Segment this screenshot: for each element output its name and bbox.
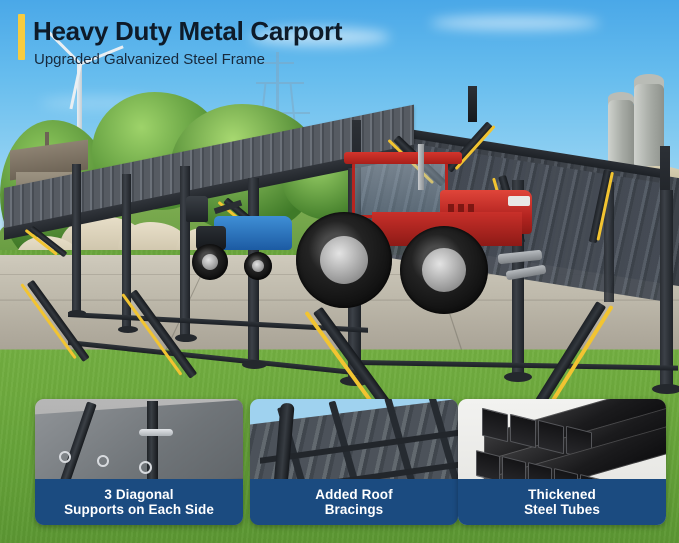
- feature-card-steel-tubes[interactable]: Thickened Steel Tubes: [458, 399, 666, 525]
- tractor-cab: [352, 160, 448, 218]
- carport-post: [72, 164, 81, 314]
- card-label-line2: Bracings: [325, 502, 384, 517]
- card-label-line1: 3 Diagonal: [104, 487, 173, 502]
- product-banner: Heavy Duty Metal Carport Upgraded Galvan…: [0, 0, 679, 543]
- card-label-line2: Steel Tubes: [524, 502, 600, 517]
- carport-base-plate: [118, 326, 138, 333]
- diagonal-brace-highlight: [121, 293, 182, 376]
- carport-base-plate: [68, 310, 86, 316]
- clip-icon: [59, 451, 71, 463]
- diagonal-brace: [535, 301, 606, 405]
- diagonal-brace-highlight: [20, 283, 77, 359]
- page-title: Heavy Duty Metal Carport: [33, 16, 342, 47]
- tractor-roof: [344, 152, 462, 164]
- cloud-icon: [430, 16, 600, 30]
- page-subtitle: Upgraded Galvanized Steel Frame: [34, 51, 265, 68]
- carport-base-plate: [504, 372, 532, 382]
- card-label-line1: Thickened: [528, 487, 596, 502]
- carport-truss: [468, 86, 477, 122]
- diagonal-brace-highlight: [551, 305, 614, 402]
- carport-rail: [68, 340, 368, 377]
- card-label-roof-bracings: Added Roof Bracings: [250, 479, 458, 525]
- carport-base-plate: [175, 334, 197, 342]
- feature-card-diagonal-supports[interactable]: 3 Diagonal Supports on Each Side: [35, 399, 243, 525]
- card-label-line1: Added Roof: [315, 487, 393, 502]
- card-label-diagonal-supports: 3 Diagonal Supports on Each Side: [35, 479, 243, 525]
- clip-icon: [97, 455, 109, 467]
- tractor-seat: [186, 196, 208, 222]
- carport-base-plate: [652, 384, 679, 394]
- card-label-line2: Supports on Each Side: [64, 502, 214, 517]
- carport-base-plate: [242, 360, 267, 369]
- clip-icon: [139, 461, 152, 474]
- carport-post: [180, 166, 190, 338]
- card-label-steel-tubes: Thickened Steel Tubes: [458, 479, 666, 525]
- bolt-icon: [139, 429, 173, 436]
- feature-card-list: 3 Diagonal Supports on Each Side Added R…: [0, 399, 679, 529]
- carport-post: [660, 190, 673, 388]
- feature-card-roof-bracings[interactable]: Added Roof Bracings: [250, 399, 458, 525]
- title-accent-bar: [18, 14, 25, 60]
